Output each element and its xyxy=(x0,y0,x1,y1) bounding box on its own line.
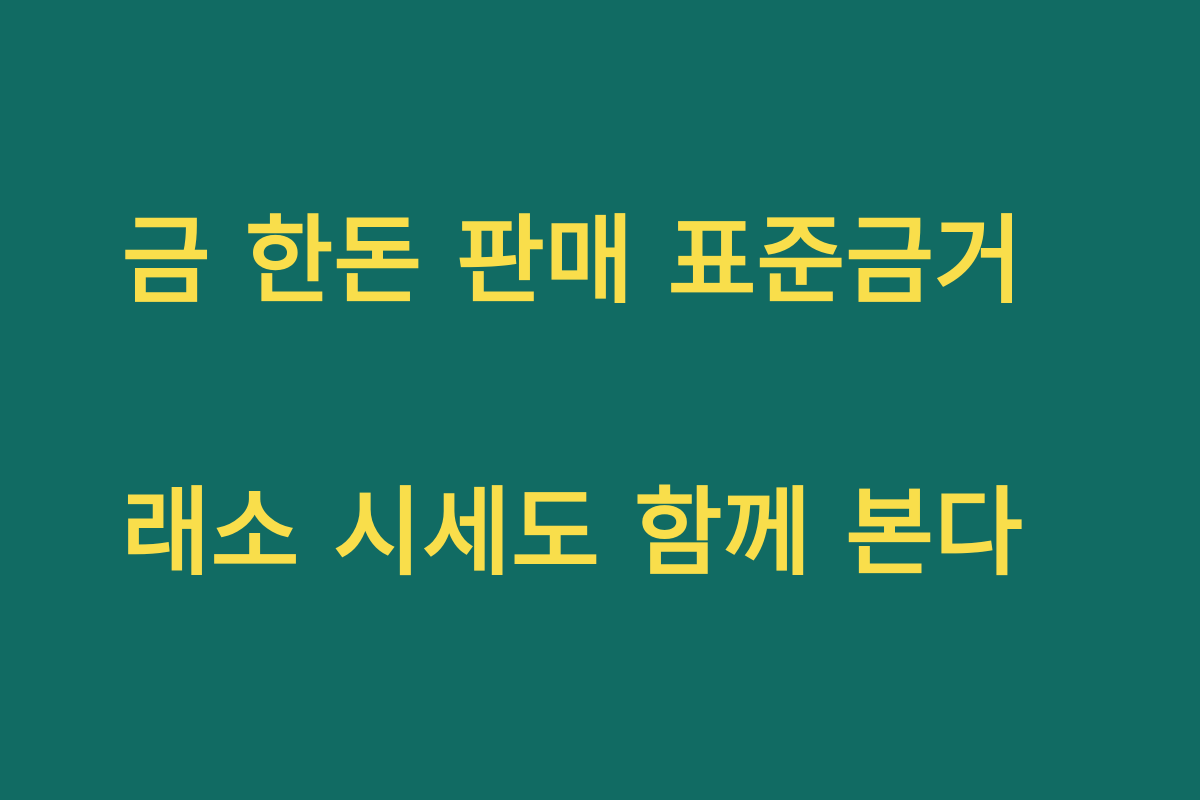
text-card: 금 한돈 판매 표준금거 래소 시세도 함께 본다 xyxy=(0,0,1200,800)
headline-line-1: 금 한돈 판매 표준금거 xyxy=(122,193,1023,329)
headline-text: 금 한돈 판매 표준금거 래소 시세도 함께 본다 xyxy=(0,56,1133,738)
headline-line-2: 래소 시세도 함께 본다 xyxy=(122,465,1023,601)
